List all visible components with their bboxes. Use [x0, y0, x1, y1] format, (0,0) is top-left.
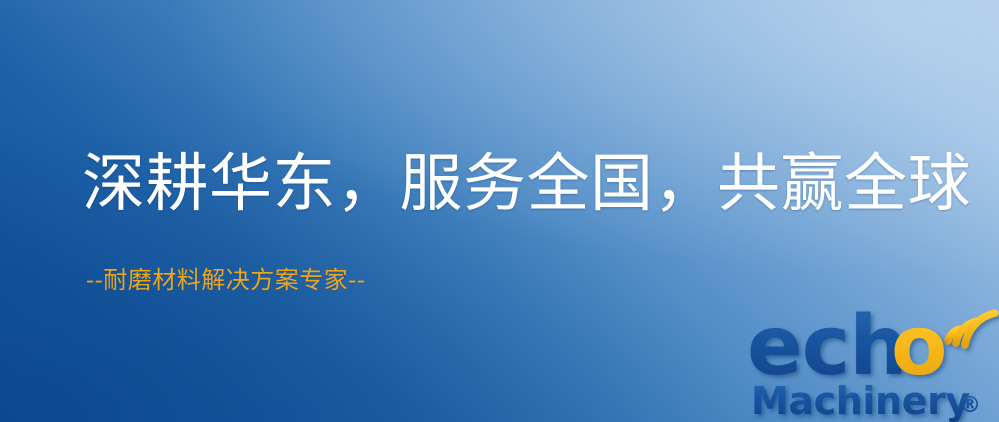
hero-banner: 深耕华东，服务全国，共赢全球 --耐磨材料解决方案专家--	[0, 0, 999, 422]
page-title: 深耕华东，服务全国，共赢全球	[82, 152, 971, 215]
registered-trademark-icon: ®	[959, 393, 981, 418]
signal-arcs-icon	[948, 313, 995, 345]
signal-arc-outer-icon	[965, 313, 995, 345]
company-logo[interactable]: ech o Machinery ®	[747, 296, 999, 422]
logo-wordmark-machinery: Machinery	[751, 379, 970, 422]
banner-subtitle: --耐磨材料解决方案专家--	[86, 268, 365, 292]
